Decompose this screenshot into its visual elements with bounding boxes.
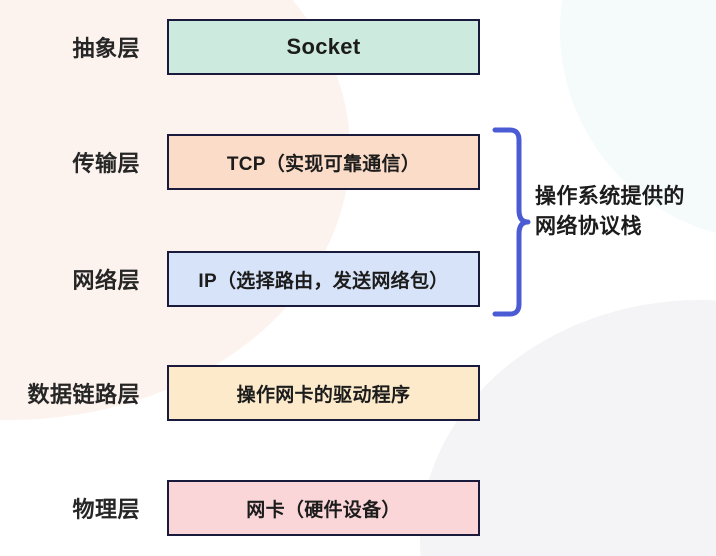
layer-row-abstraction: 抽象层 Socket	[0, 18, 716, 76]
layer-box-text-abstraction: Socket	[287, 34, 361, 60]
layer-row-datalink: 数据链路层 操作网卡的驱动程序	[0, 364, 716, 422]
layer-box-network[interactable]: IP（选择路由，发送网络包）	[167, 251, 480, 307]
annotation-line-2: 网络协议栈	[535, 212, 716, 242]
layer-box-transport[interactable]: TCP（实现可靠通信）	[167, 134, 480, 190]
annotation-line-1: 操作系统提供的	[535, 182, 716, 212]
os-network-stack-group: 操作系统提供的 网络协议栈	[492, 126, 716, 318]
diagram-content: 抽象层 Socket 传输层 TCP（实现可靠通信） 网络层 IP（选择路由，发…	[0, 0, 716, 556]
layer-label-datalink: 数据链路层	[0, 377, 140, 409]
diagram-canvas: 抽象层 Socket 传输层 TCP（实现可靠通信） 网络层 IP（选择路由，发…	[0, 0, 716, 556]
layer-row-physical: 物理层 网卡（硬件设备）	[0, 479, 716, 537]
layer-box-text-transport: TCP（实现可靠通信）	[227, 149, 420, 176]
layer-label-physical: 物理层	[0, 492, 140, 524]
os-network-stack-annotation: 操作系统提供的 网络协议栈	[535, 182, 716, 243]
layer-box-text-datalink: 操作网卡的驱动程序	[237, 380, 411, 407]
layer-box-text-physical: 网卡（硬件设备）	[246, 495, 400, 522]
layer-label-transport: 传输层	[0, 146, 140, 178]
layer-label-abstraction: 抽象层	[0, 31, 140, 63]
curly-brace-icon	[492, 126, 532, 318]
layer-box-physical[interactable]: 网卡（硬件设备）	[167, 480, 480, 536]
layer-box-datalink[interactable]: 操作网卡的驱动程序	[167, 365, 480, 421]
layer-label-network: 网络层	[0, 263, 140, 295]
layer-box-text-network: IP（选择路由，发送网络包）	[198, 266, 448, 293]
layer-box-abstraction[interactable]: Socket	[167, 19, 480, 75]
